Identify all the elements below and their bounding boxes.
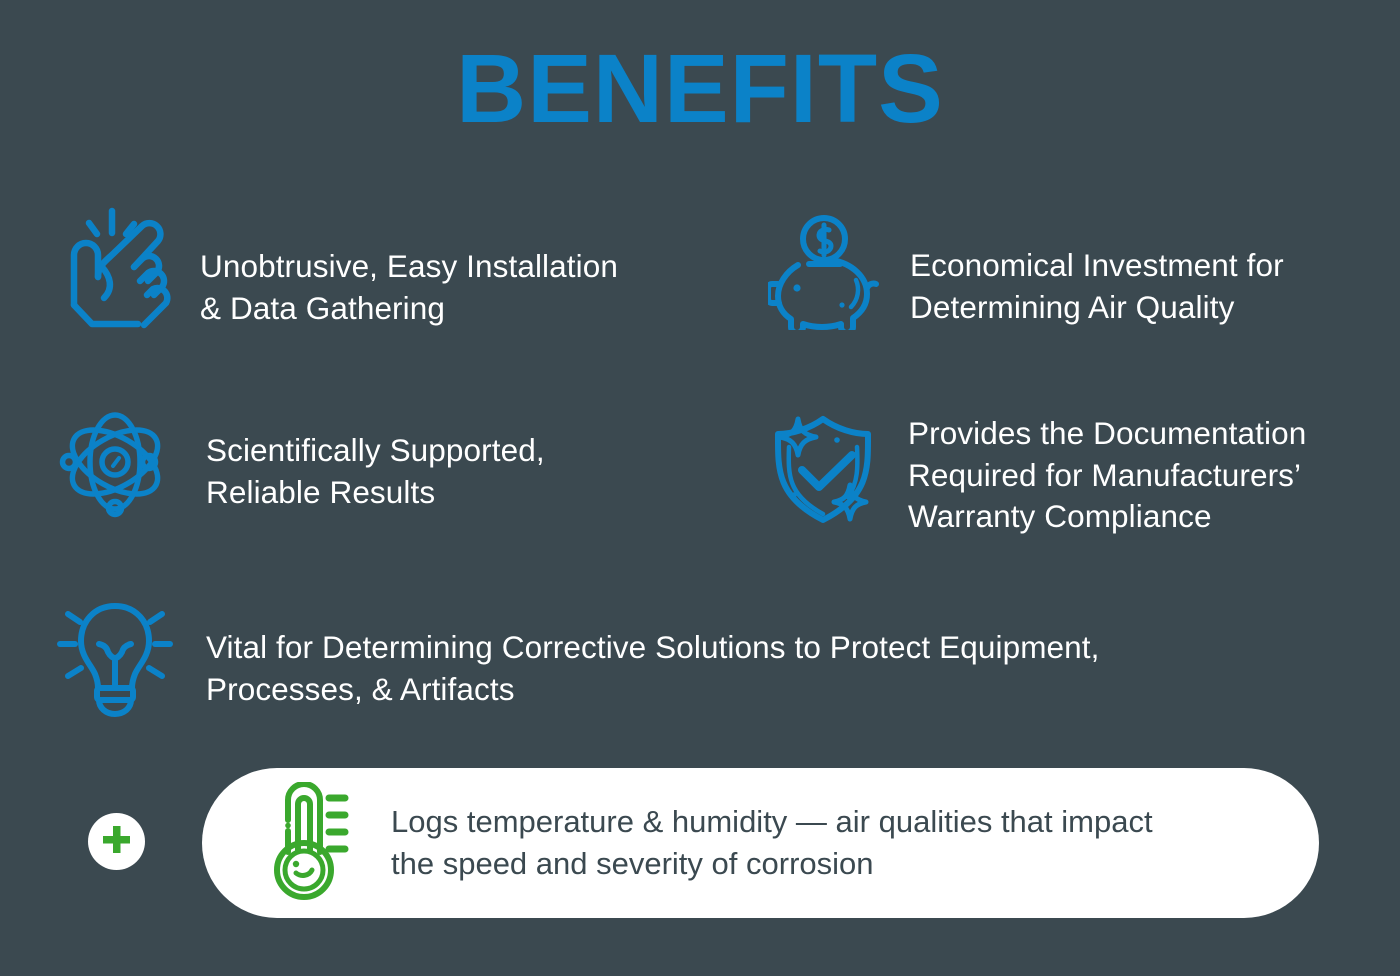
pointing-hand-tap-icon [62,205,172,335]
benefit-label: Provides the Documentation Required for … [908,413,1306,538]
benefit-item-warranty-documentation: Provides the Documentation Required for … [768,413,1306,538]
benefit-item-corrective-solutions: Vital for Determining Corrective Solutio… [56,600,1099,723]
benefits-infographic: BENEFITS Unobtrusive, Easy Installation … [0,0,1400,976]
thermometer-smiley-icon [265,782,351,905]
highlight-card-label: Logs temperature & humidity — air qualit… [391,801,1153,885]
benefit-item-unobtrusive-installation: Unobtrusive, Easy Installation & Data Ga… [62,205,618,335]
lightbulb-icon [56,600,174,723]
plus-icon [100,823,133,861]
highlight-card: Logs temperature & humidity — air qualit… [202,768,1319,918]
benefit-label: Scientifically Supported, Reliable Resul… [206,430,545,513]
benefit-label: Unobtrusive, Easy Installation & Data Ga… [200,246,618,329]
benefit-label: Vital for Determining Corrective Solutio… [206,627,1099,710]
page-title: BENEFITS [0,38,1400,140]
plus-badge [88,813,145,870]
benefit-label: Economical Investment for Determining Ai… [910,245,1284,328]
benefit-item-economical-investment: Economical Investment for Determining Ai… [768,212,1284,335]
piggy-bank-icon [768,212,880,335]
shield-check-sparkle-icon [768,413,878,532]
atom-icon [56,408,174,525]
benefit-item-scientifically-supported: Scientifically Supported, Reliable Resul… [56,408,545,525]
